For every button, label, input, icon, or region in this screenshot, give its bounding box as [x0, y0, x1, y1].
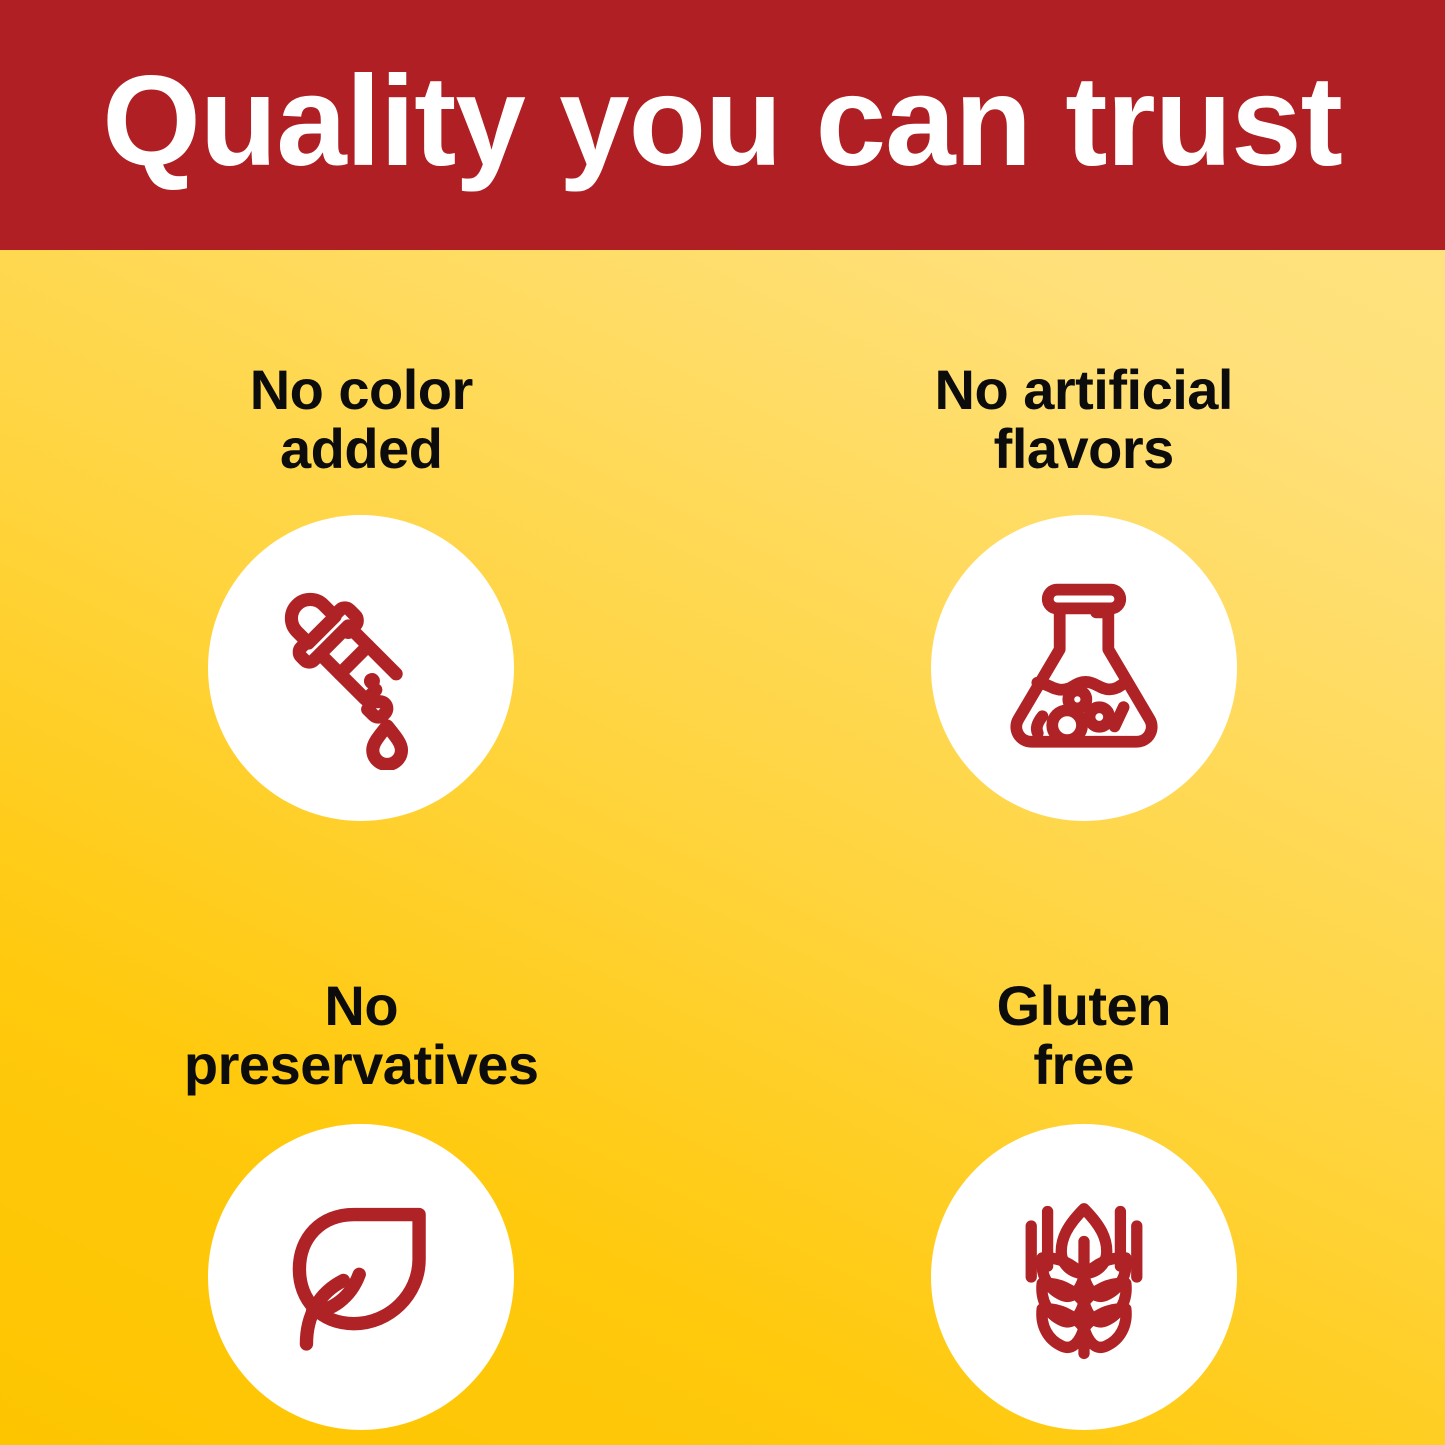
feature-label: No artificial flavors [935, 360, 1233, 479]
feature-label: No color added [250, 360, 473, 479]
icon-badge [208, 1124, 514, 1430]
feature-cell-no-preservatives: No preservatives [0, 848, 723, 1445]
feature-grid: No color added [0, 250, 1445, 1445]
icon-badge [931, 1124, 1237, 1430]
feature-cell-no-color-added: No color added [0, 250, 723, 848]
header-banner: Quality you can trust [0, 0, 1445, 250]
leaf-icon [273, 1189, 449, 1365]
quality-claims-poster: Quality you can trust No color added [0, 0, 1445, 1445]
icon-badge [931, 515, 1237, 821]
flask-icon [986, 570, 1182, 766]
feature-cell-no-artificial-flavors: No artificial flavors [723, 250, 1445, 848]
page-title: Quality you can trust [103, 58, 1343, 192]
icon-badge [208, 515, 514, 821]
wheat-icon [993, 1186, 1175, 1368]
dropper-icon [259, 565, 464, 770]
feature-label: Gluten free [997, 976, 1171, 1095]
feature-cell-gluten-free: Gluten free [723, 848, 1445, 1445]
feature-label: No preservatives [184, 976, 539, 1095]
